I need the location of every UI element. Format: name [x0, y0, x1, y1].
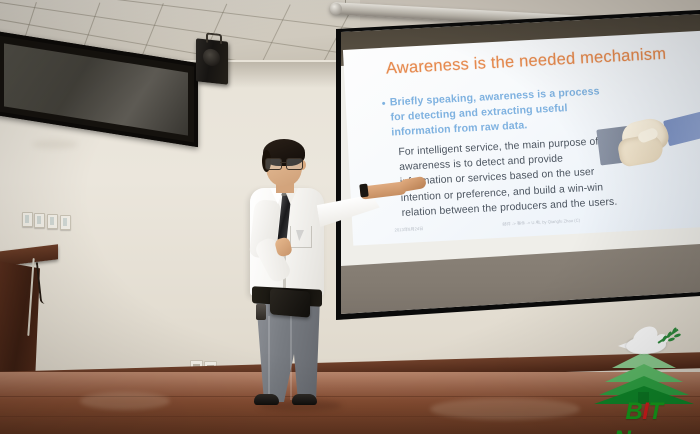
eyeglasses-icon: [265, 158, 304, 168]
floor-reflection: [430, 398, 580, 420]
bullet-text: For intelligent service, the main purpos…: [398, 136, 617, 218]
shirt-pocket: [290, 226, 312, 248]
wall-smudge: [32, 140, 78, 149]
eyeglass-lens-right: [286, 158, 303, 170]
wrist-watch: [359, 184, 369, 198]
branch-leaf: [668, 337, 676, 343]
light-switch[interactable]: [34, 213, 45, 228]
trouser-crease: [268, 316, 270, 400]
belt-keys: [256, 304, 266, 320]
presenter-shoe-right: [292, 394, 317, 405]
handshake-sleeve-right: [663, 111, 700, 146]
bit-news-watermark: BIT News: [592, 322, 696, 432]
slide-footer-date: 2013年8月24日: [394, 226, 423, 234]
speaker-cone: [203, 48, 220, 67]
projected-slide: Awareness is the needed mechanism • Brie…: [341, 0, 700, 314]
branch-leaf: [674, 333, 682, 339]
light-switch[interactable]: [60, 215, 71, 230]
speaker-bracket: [206, 32, 222, 44]
logo-text-b: B: [625, 398, 642, 425]
floor-reflection: [80, 392, 170, 410]
presenter-shoe-left: [254, 394, 279, 405]
trouser-crease: [290, 316, 292, 400]
light-switch[interactable]: [47, 214, 58, 229]
wall-speaker: [196, 38, 228, 84]
podium-body: [0, 261, 40, 383]
slide-bullet-2: For intelligent service, the main purpos…: [398, 134, 620, 221]
bullet-text: Briefly speaking, awareness is a process…: [389, 85, 599, 138]
presenter: [232, 138, 372, 400]
eyeglass-lens-left: [265, 158, 282, 170]
olive-branch-icon: [656, 326, 682, 346]
light-switch[interactable]: [22, 212, 33, 227]
waist-pouch: [270, 288, 310, 317]
bit-news-label: BIT News: [592, 398, 696, 434]
handshake-icon: [597, 113, 700, 184]
bullet-marker: •: [381, 97, 386, 112]
dove-icon: [618, 328, 672, 362]
screenshot-root: Awareness is the needed mechanism • Brie…: [0, 0, 700, 434]
